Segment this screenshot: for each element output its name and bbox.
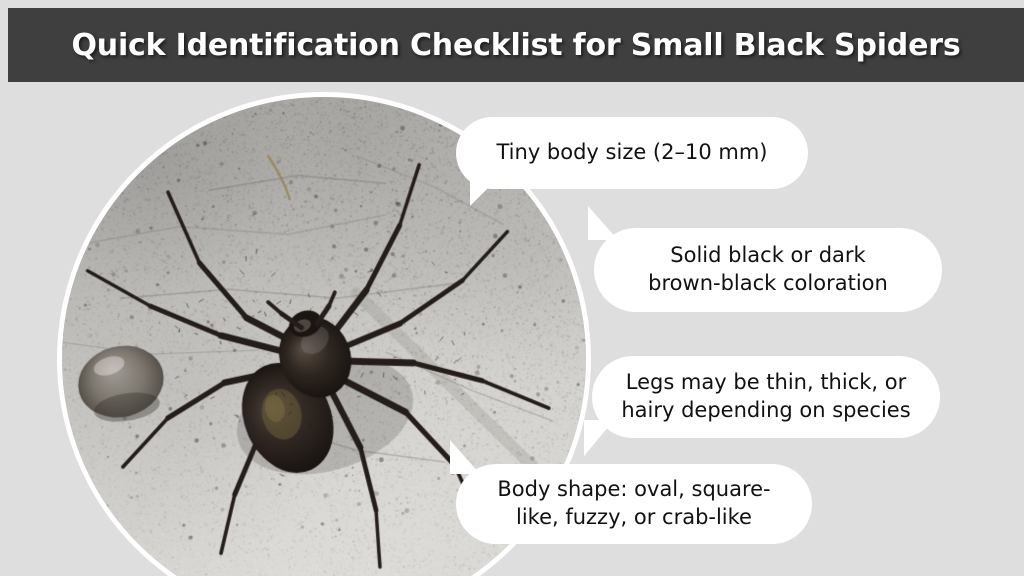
callout-legs: Legs may be thin, thick, or hairy depend…	[592, 356, 940, 438]
callout-tiny-body-size: Tiny body size (2–10 mm)	[456, 117, 808, 189]
callout-coloration: Solid black or dark brown-black colorati…	[594, 228, 942, 312]
header-bar: Quick Identification Checklist for Small…	[8, 8, 1024, 82]
infographic-canvas: Tiny body size (2–10 mm) Solid black or …	[0, 0, 1024, 576]
callout-text-tiny-body-size: Tiny body size (2–10 mm)	[497, 139, 768, 167]
callout-text-legs: Legs may be thin, thick, or hairy depend…	[621, 369, 910, 424]
page-title: Quick Identification Checklist for Small…	[72, 28, 961, 63]
callout-text-coloration: Solid black or dark brown-black colorati…	[648, 242, 888, 297]
callout-text-body-shape: Body shape: oval, square- like, fuzzy, o…	[497, 476, 770, 531]
callout-body-shape: Body shape: oval, square- like, fuzzy, o…	[456, 464, 812, 544]
